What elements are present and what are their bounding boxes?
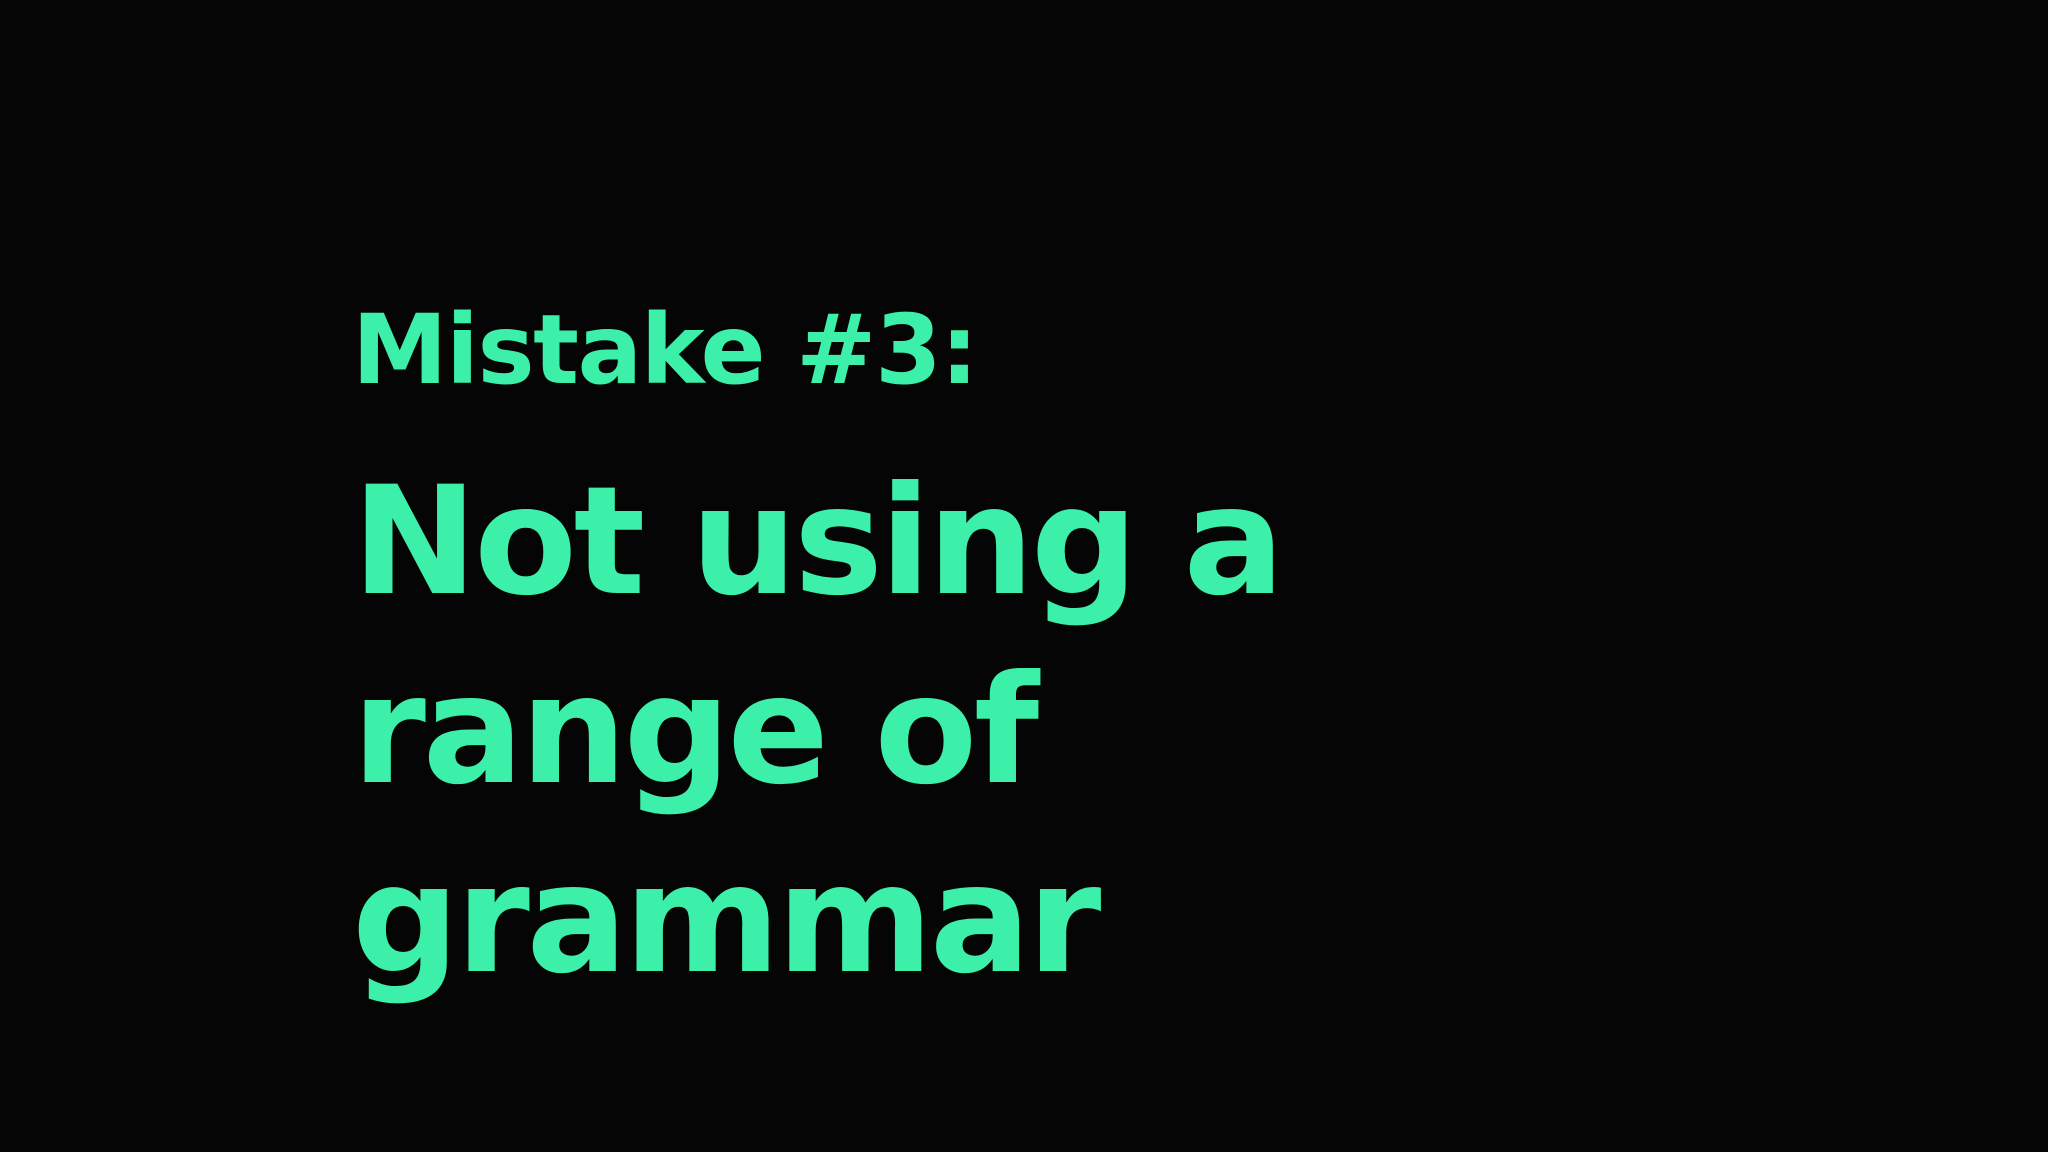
slide-eyebrow: Mistake #3:: [352, 300, 1752, 402]
slide-headline: Not using a range of grammar: [352, 448, 1692, 1015]
slide-text-block: Mistake #3: Not using a range of grammar: [352, 300, 1752, 1015]
slide-canvas: Mistake #3: Not using a range of grammar: [0, 0, 2048, 1152]
